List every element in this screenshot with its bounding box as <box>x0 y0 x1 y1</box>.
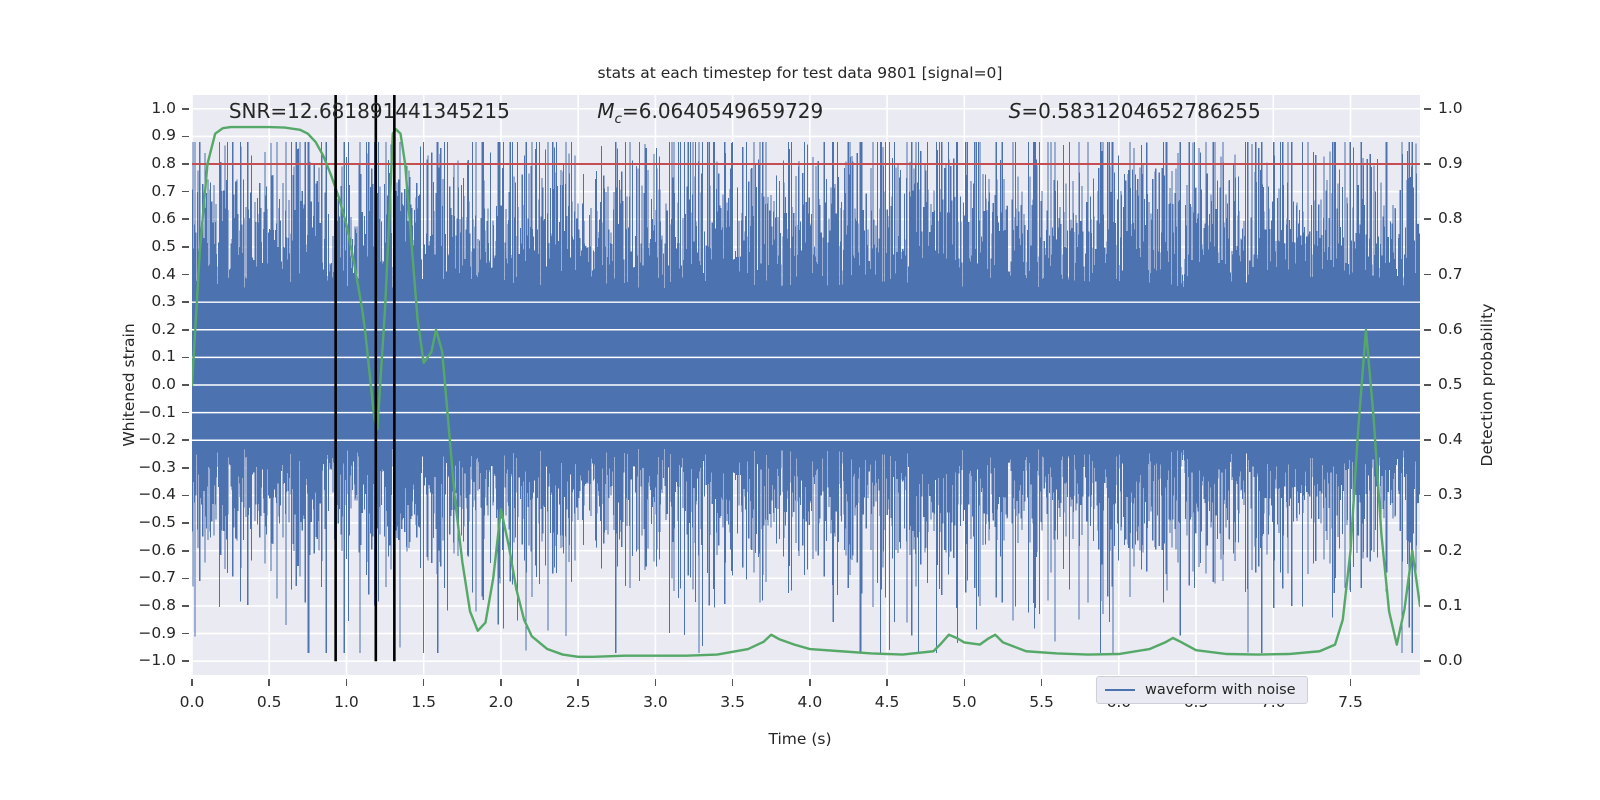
x-tick-mark <box>346 679 348 686</box>
y-tick-mark-left <box>182 412 189 414</box>
y-tick-label-left: 0.4 <box>116 265 176 283</box>
x-tick-mark <box>655 679 657 686</box>
y-tick-mark-right <box>1424 550 1431 552</box>
x-tick-label: 0.5 <box>239 693 299 711</box>
annotation-score: S=0.5831204652786255 <box>1009 99 1261 123</box>
y-tick-mark-left <box>182 218 189 220</box>
y-tick-mark-left <box>182 329 189 331</box>
y-tick-mark-right <box>1424 329 1431 331</box>
x-tick-label: 4.5 <box>857 693 917 711</box>
chart-title: stats at each timestep for test data 980… <box>0 64 1600 82</box>
y-tick-mark-right <box>1424 218 1431 220</box>
y-tick-label-left: −0.5 <box>116 513 176 531</box>
x-tick-label: 1.5 <box>394 693 454 711</box>
y-tick-mark-left <box>182 384 189 386</box>
y-tick-mark-left <box>182 578 189 580</box>
x-tick-label: 4.0 <box>780 693 840 711</box>
y-tick-mark-right <box>1424 605 1431 607</box>
y-tick-label-right: 0.0 <box>1438 651 1498 669</box>
y-tick-label-left: −0.9 <box>116 624 176 642</box>
y-tick-mark-right <box>1424 439 1431 441</box>
y-tick-mark-left <box>182 357 189 359</box>
y-tick-label-left: −0.8 <box>116 596 176 614</box>
y-tick-label-right: 0.1 <box>1438 596 1498 614</box>
y-tick-label-right: 1.0 <box>1438 99 1498 117</box>
y-tick-label-left: −0.3 <box>116 458 176 476</box>
y-tick-mark-left <box>182 660 189 662</box>
y-tick-label-right: 0.8 <box>1438 209 1498 227</box>
annotation-chirp-mass: Mc=6.0640549659729 <box>597 99 823 127</box>
y-tick-label-left: −0.4 <box>116 485 176 503</box>
figure-canvas: stats at each timestep for test data 980… <box>0 0 1600 800</box>
y-tick-label-left: 0.7 <box>116 182 176 200</box>
x-tick-label: 1.0 <box>316 693 376 711</box>
y-tick-mark-left <box>182 163 189 165</box>
annotation-snr: SNR=12.681891441345215 <box>229 99 510 123</box>
x-tick-mark <box>500 679 502 686</box>
y-tick-mark-right <box>1424 660 1431 662</box>
x-tick-label: 3.0 <box>625 693 685 711</box>
legend-label-waveform: waveform with noise <box>1145 682 1296 698</box>
y-axis-right-label: Detection probability <box>1478 304 1496 467</box>
y-tick-mark-right <box>1424 163 1431 165</box>
x-tick-label: 0.0 <box>162 693 222 711</box>
y-tick-label-left: −1.0 <box>116 651 176 669</box>
x-tick-mark <box>732 679 734 686</box>
y-tick-mark-left <box>182 274 189 276</box>
y-tick-mark-right <box>1424 108 1431 110</box>
y-tick-mark-right <box>1424 384 1431 386</box>
x-tick-mark <box>577 679 579 686</box>
x-tick-label: 7.5 <box>1320 693 1380 711</box>
y-tick-label-right: 0.2 <box>1438 541 1498 559</box>
y-tick-mark-left <box>182 136 189 138</box>
y-tick-mark-left <box>182 301 189 303</box>
y-tick-mark-left <box>182 108 189 110</box>
legend-swatch-waveform <box>1105 689 1135 691</box>
x-tick-label: 3.5 <box>703 693 763 711</box>
y-tick-mark-right <box>1424 274 1431 276</box>
x-tick-mark <box>191 679 193 686</box>
y-tick-mark-right <box>1424 495 1431 497</box>
y-tick-mark-left <box>182 522 189 524</box>
x-tick-mark <box>886 679 888 686</box>
y-tick-label-right: 0.7 <box>1438 265 1498 283</box>
x-tick-label: 5.0 <box>934 693 994 711</box>
x-tick-label: 5.5 <box>1012 693 1072 711</box>
x-tick-mark <box>423 679 425 686</box>
y-tick-mark-left <box>182 467 189 469</box>
y-axis-left-label: Whitened strain <box>120 323 138 446</box>
y-tick-label-left: 1.0 <box>116 99 176 117</box>
y-tick-mark-left <box>182 439 189 441</box>
y-tick-label-left: 0.5 <box>116 237 176 255</box>
plot-svg <box>192 95 1420 675</box>
y-tick-label-left: 0.8 <box>116 154 176 172</box>
y-tick-mark-left <box>182 246 189 248</box>
y-tick-mark-left <box>182 495 189 497</box>
x-tick-mark <box>1350 679 1352 686</box>
x-tick-label: 2.5 <box>548 693 608 711</box>
x-axis-label: Time (s) <box>0 730 1600 748</box>
y-tick-mark-left <box>182 605 189 607</box>
y-tick-label-left: 0.6 <box>116 209 176 227</box>
y-tick-label-left: −0.6 <box>116 541 176 559</box>
plot-area <box>192 95 1420 675</box>
y-tick-mark-left <box>182 550 189 552</box>
x-tick-mark <box>809 679 811 686</box>
y-tick-mark-left <box>182 633 189 635</box>
y-tick-label-right: 0.9 <box>1438 154 1498 172</box>
y-tick-mark-left <box>182 191 189 193</box>
x-tick-mark <box>964 679 966 686</box>
y-tick-label-right: 0.3 <box>1438 485 1498 503</box>
y-tick-label-left: 0.3 <box>116 292 176 310</box>
x-tick-mark <box>1041 679 1043 686</box>
x-tick-mark <box>268 679 270 686</box>
x-tick-label: 2.0 <box>471 693 531 711</box>
y-tick-label-left: −0.7 <box>116 568 176 586</box>
y-tick-label-left: 0.9 <box>116 126 176 144</box>
legend: waveform with noise <box>1096 676 1308 704</box>
